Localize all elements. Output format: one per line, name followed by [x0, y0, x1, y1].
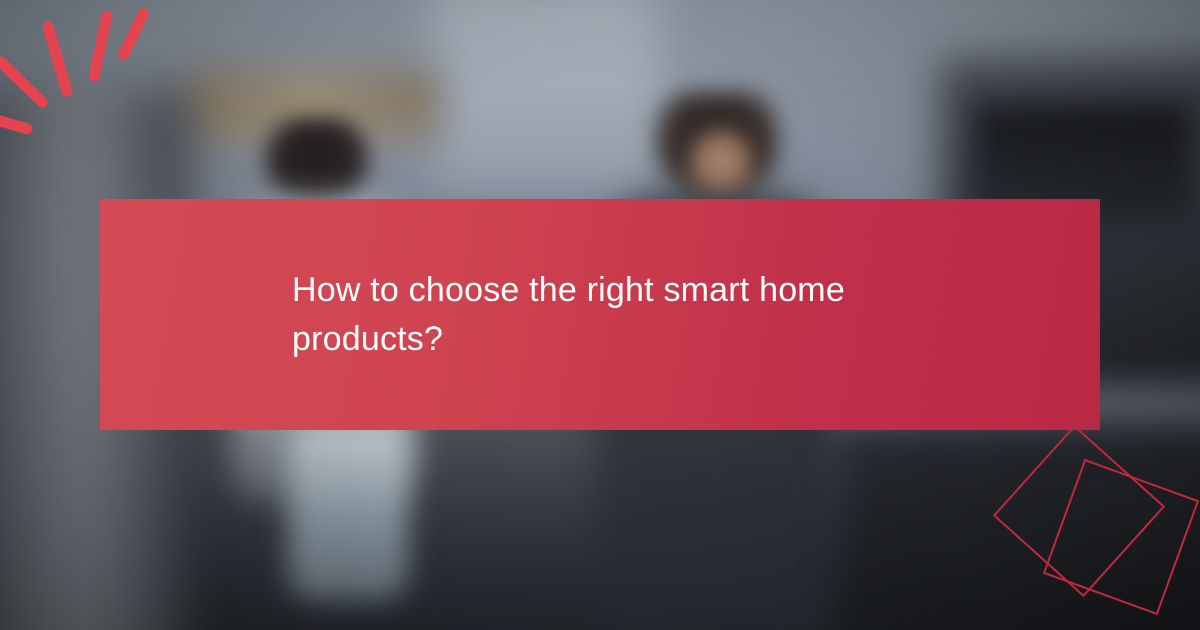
headline-banner: How to choose the right smart home produ… [100, 199, 1100, 430]
promo-banner-image: How to choose the right smart home produ… [0, 0, 1200, 630]
headline-text: How to choose the right smart home produ… [100, 266, 1088, 364]
